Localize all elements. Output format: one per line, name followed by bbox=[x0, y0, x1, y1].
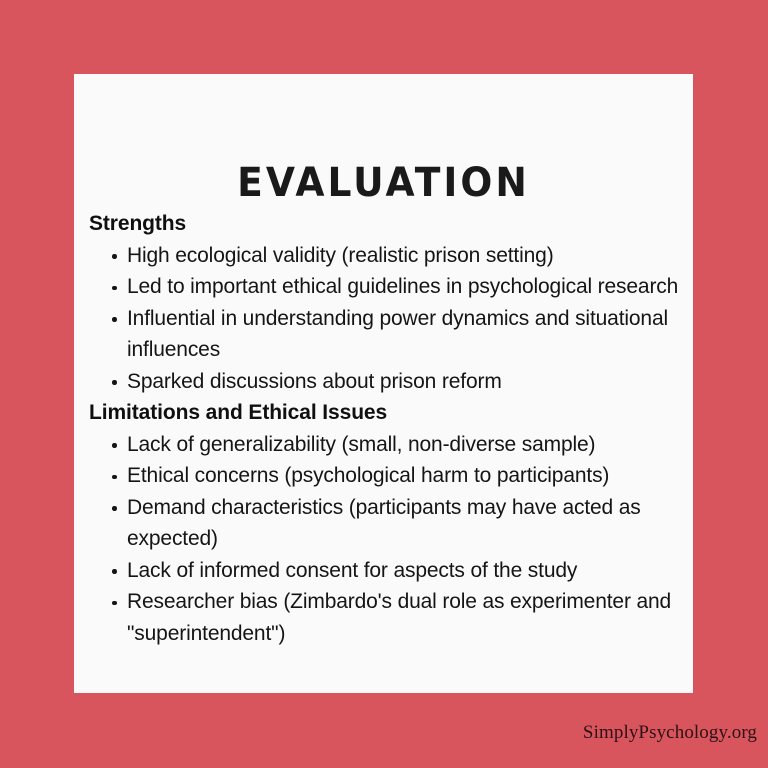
bullet-dot-icon bbox=[112, 286, 117, 291]
list-item: Lack of informed consent for aspects of … bbox=[89, 555, 681, 587]
bullet-dot-icon bbox=[112, 380, 117, 385]
slide-canvas: Evaluation StrengthsHigh ecological vali… bbox=[0, 0, 768, 768]
content-card: Evaluation StrengthsHigh ecological vali… bbox=[74, 74, 693, 693]
list-item-label: Led to important ethical guidelines in p… bbox=[127, 275, 678, 298]
page-title: Evaluation bbox=[93, 163, 675, 203]
list-item: Sparked discussions about prison reform bbox=[89, 366, 681, 398]
section-heading: Strengths bbox=[89, 208, 681, 240]
list-item-label: Lack of informed consent for aspects of … bbox=[127, 559, 577, 582]
evaluation-section: Limitations and Ethical IssuesLack of ge… bbox=[89, 397, 681, 649]
bullet-list: High ecological validity (realistic pris… bbox=[89, 240, 681, 398]
section-heading: Limitations and Ethical Issues bbox=[89, 397, 681, 429]
list-item: Led to important ethical guidelines in p… bbox=[89, 271, 681, 303]
list-item: Influential in understanding power dynam… bbox=[89, 303, 681, 366]
list-item: High ecological validity (realistic pris… bbox=[89, 240, 681, 272]
site-attribution: SimplyPsychology.org bbox=[583, 722, 757, 744]
list-item: Demand characteristics (participants may… bbox=[89, 492, 681, 555]
bullet-dot-icon bbox=[112, 506, 117, 511]
evaluation-section: StrengthsHigh ecological validity (reali… bbox=[89, 208, 681, 397]
list-item: Researcher bias (Zimbardo's dual role as… bbox=[89, 586, 681, 649]
list-item-label: High ecological validity (realistic pris… bbox=[127, 244, 554, 267]
bullet-dot-icon bbox=[112, 254, 117, 259]
list-item: Ethical concerns (psychological harm to … bbox=[89, 460, 681, 492]
list-item-label: Influential in understanding power dynam… bbox=[127, 307, 668, 362]
bullet-list: Lack of generalizability (small, non-div… bbox=[89, 429, 681, 650]
bullet-dot-icon bbox=[112, 443, 117, 448]
bullet-dot-icon bbox=[112, 475, 117, 480]
list-item-label: Lack of generalizability (small, non-div… bbox=[127, 433, 595, 456]
evaluation-body: StrengthsHigh ecological validity (reali… bbox=[89, 208, 681, 649]
bullet-dot-icon bbox=[112, 569, 117, 574]
list-item-label: Demand characteristics (participants may… bbox=[127, 496, 641, 551]
bullet-dot-icon bbox=[112, 601, 117, 606]
list-item: Lack of generalizability (small, non-div… bbox=[89, 429, 681, 461]
list-item-label: Sparked discussions about prison reform bbox=[127, 370, 502, 393]
list-item-label: Ethical concerns (psychological harm to … bbox=[127, 464, 609, 487]
bullet-dot-icon bbox=[112, 317, 117, 322]
list-item-label: Researcher bias (Zimbardo's dual role as… bbox=[127, 590, 671, 645]
